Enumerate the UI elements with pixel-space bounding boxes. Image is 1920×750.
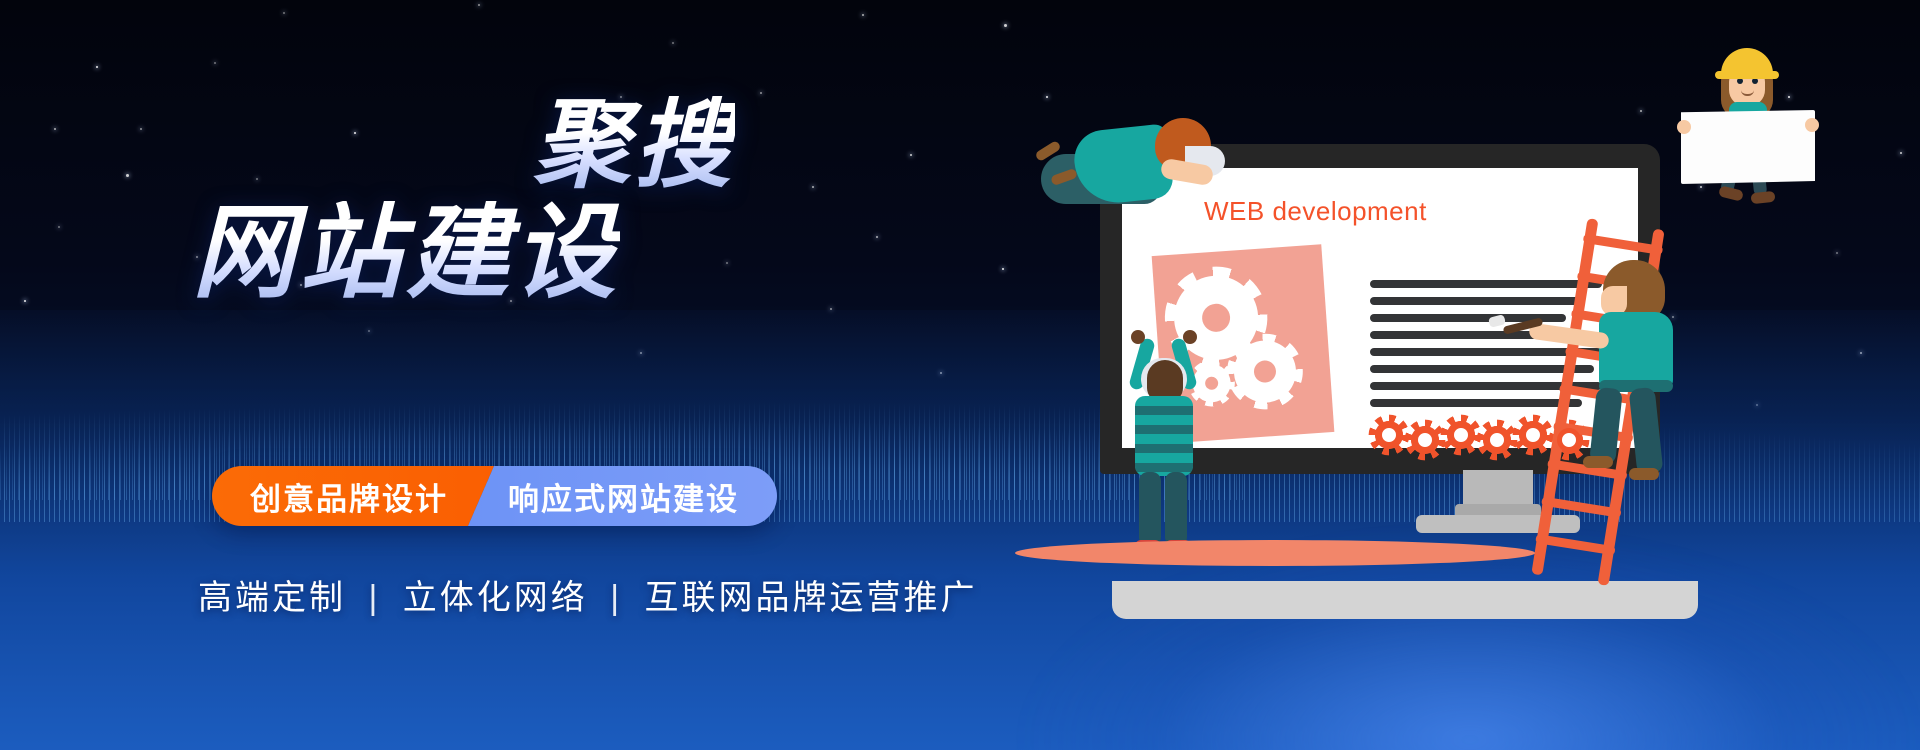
star (862, 14, 864, 16)
hardhat-brim (1715, 71, 1779, 79)
orange-gear (1480, 423, 1514, 457)
painter-shoe-left (1583, 456, 1613, 468)
character-blueprint-engineer (1667, 26, 1827, 186)
lifter-leg-left (1139, 472, 1161, 546)
ground-ellipse (1015, 540, 1535, 566)
screen-text-line (1370, 280, 1602, 288)
hero-banner: 聚搜 网站建设 创意品牌设计 响应式网站建设 高端定制 | 立体化网络 | 互联… (0, 0, 1920, 750)
poster-gear-medium (1232, 338, 1298, 404)
tagline-part-2: 立体化网络 (403, 579, 588, 617)
star (672, 42, 674, 44)
star (1002, 268, 1004, 270)
orange-gear (1408, 423, 1442, 457)
painter-shoe-right (1629, 468, 1659, 480)
ladder-rung (1541, 496, 1621, 517)
star (214, 62, 216, 64)
tagline-part-1: 高端定制 (198, 579, 346, 617)
character-gear-installer (1035, 106, 1265, 246)
brand-title-line1: 聚搜 (0, 96, 735, 193)
star (760, 92, 762, 94)
star (283, 12, 285, 14)
screen-text-line (1370, 399, 1582, 407)
lifter-hand-left (1131, 330, 1145, 344)
pill-responsive-site[interactable]: 响应式网站建设 (468, 466, 777, 526)
engineer-shoe-right (1750, 191, 1775, 204)
tagline-part-3: 互联网品牌运营推广 (645, 579, 978, 617)
ladder-rung (1583, 234, 1663, 255)
web-development-illustration: WEB development (1075, 10, 1920, 750)
engineer-hand-left (1677, 120, 1691, 134)
tagline: 高端定制 | 立体化网络 | 互联网品牌运营推广 (198, 570, 978, 619)
pill-creative-design[interactable]: 创意品牌设计 (212, 466, 494, 526)
lifter-hand-right (1183, 330, 1197, 344)
painter-leg-left (1589, 387, 1623, 465)
character-ladder-painter (1575, 260, 1715, 490)
screen-text-line (1370, 331, 1548, 339)
star (1004, 24, 1007, 27)
monitor-base-bar (1112, 581, 1698, 619)
service-pill[interactable]: 创意品牌设计 响应式网站建设 (212, 466, 777, 526)
star (478, 4, 480, 6)
tagline-separator-1: | (368, 579, 380, 617)
painter-shirt (1599, 312, 1673, 390)
blueprint-paper (1681, 110, 1815, 184)
headline-group: 聚搜 网站建设 (0, 96, 930, 304)
lifter-leg-right (1165, 472, 1187, 546)
brand-title-line2: 网站建设 (0, 201, 620, 304)
engineer-shoe-left (1718, 185, 1744, 201)
engineer-hand-right (1805, 118, 1819, 132)
character-poster-lifter (1105, 334, 1225, 564)
screen-text-line (1370, 297, 1582, 305)
star (96, 66, 98, 68)
orange-gear (1516, 418, 1550, 452)
orange-gear (1444, 418, 1478, 452)
tagline-separator-2: | (610, 579, 622, 617)
orange-gear (1372, 418, 1406, 452)
star (1046, 96, 1048, 98)
painter-leg-right (1629, 387, 1664, 475)
lifter-striped-shirt (1135, 396, 1193, 476)
ladder-rung (1535, 534, 1615, 555)
